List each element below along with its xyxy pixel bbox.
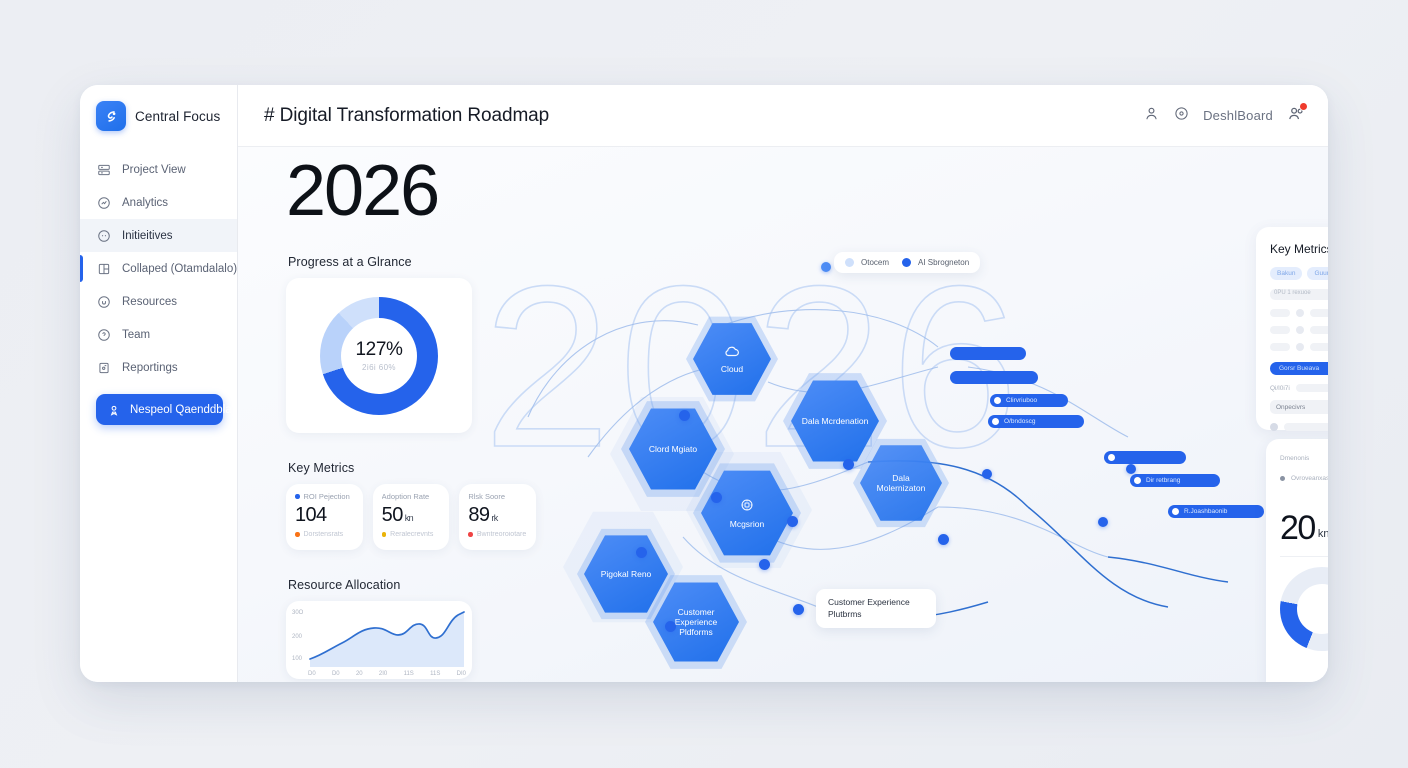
- pill-dot-icon: [1134, 477, 1141, 484]
- legend-dot-icon: [845, 258, 854, 267]
- panel-row: [1270, 309, 1328, 317]
- status-stat-unit: kn: [1318, 528, 1328, 540]
- sidebar-item-team[interactable]: Team: [80, 318, 237, 351]
- panel-ops-row: Onpecivrs: [1270, 400, 1328, 414]
- sidebar-cta-label: Nespeol Qaenddbla): [130, 404, 236, 416]
- sidebar-item-label: Analytics: [122, 197, 168, 209]
- status-donut-chart: [1280, 567, 1328, 651]
- sidebar-item-reportings[interactable]: Reportings: [80, 351, 237, 384]
- sidebar-item-collapsed[interactable]: Collaped (Otamdalalo): [80, 252, 237, 285]
- network-legend-chip: Otocem AI Sbrogneton: [834, 252, 980, 273]
- pill-label: Clirvriuboo: [1006, 397, 1037, 404]
- pill-dot-icon: [994, 397, 1001, 404]
- connector-dot: [1126, 464, 1136, 474]
- skeleton-bar: [1270, 309, 1290, 317]
- filter-chip[interactable]: Guunt: [1307, 267, 1328, 280]
- pill-label: Dir retbrang: [1146, 477, 1180, 484]
- divider: [1280, 556, 1328, 557]
- panel-row: [1270, 423, 1328, 431]
- skeleton-bar: [1296, 384, 1328, 392]
- legend-dot-icon: [902, 258, 911, 267]
- network-pill[interactable]: O/bndoscg: [988, 415, 1084, 428]
- connector-dot: [982, 469, 992, 479]
- status-stat-value: 20: [1280, 513, 1315, 544]
- sidebar-cta-button[interactable]: Nespeol Qaenddbla): [96, 394, 223, 425]
- panel-sub-label: Qi/l0i7i: [1270, 385, 1290, 392]
- connector-dot: [843, 459, 854, 470]
- hex-node-label: Mcgsrion: [730, 519, 764, 529]
- avatar-placeholder-icon: [1296, 309, 1304, 317]
- network-pill[interactable]: R.Joashbaonib: [1168, 505, 1264, 518]
- panel-filter-chips: Bakun Guunt Daets Bwt Dvre: [1270, 267, 1328, 280]
- panel-ops-label: Onpecivrs: [1276, 404, 1305, 411]
- panel-cta-button[interactable]: Gorsr Bueava: [1270, 362, 1328, 375]
- roadmap-network: Cloud Clord Mgiato Dala Mcrdenation Dala…: [238, 147, 1328, 682]
- hex-node-label: Dala Mcrdenation: [802, 416, 869, 426]
- network-pill[interactable]: [1104, 451, 1186, 464]
- dashboard-nav-label[interactable]: DeshlBoard: [1203, 108, 1273, 123]
- avatar-placeholder-icon: [1296, 343, 1304, 351]
- network-pill[interactable]: [950, 347, 1026, 360]
- app-window: Central Focus Project View Analy: [80, 85, 1328, 682]
- panel-cta-label: Gorsr Bueava: [1279, 365, 1319, 372]
- main-area: # Digital Transformation Roadmap DeshlBo…: [238, 85, 1328, 682]
- sidebar-item-label: Project View: [122, 164, 186, 176]
- target-circle-icon: [96, 228, 112, 244]
- status-big-stat: 20 kn Bownovoverd3: [1280, 513, 1328, 544]
- sidebar-item-initiatives[interactable]: Initieitives: [80, 219, 237, 252]
- box-circle-icon: [96, 294, 112, 310]
- connector-dot: [1098, 517, 1108, 527]
- hub-icon: [739, 497, 755, 515]
- layout-icon: [96, 261, 112, 277]
- dashboard-canvas: 2026 2026 Progress at a Glrance 127% 2i6…: [238, 147, 1328, 682]
- sidebar-nav: Project View Analytics Initieitives: [80, 147, 237, 425]
- connector-dot: [787, 516, 798, 527]
- list-icon: [96, 162, 112, 178]
- panel-row: Sresuo: [1280, 493, 1328, 507]
- clock-icon[interactable]: [1174, 106, 1189, 126]
- skeleton-bar: [1270, 326, 1290, 334]
- filter-chip[interactable]: Bakun: [1270, 267, 1302, 280]
- network-pill[interactable]: Dir retbrang: [1130, 474, 1220, 487]
- status-panel: Dmenonis Ovroveanxas Sresuo: [1266, 439, 1328, 682]
- connector-dot: [636, 547, 647, 558]
- status-node-label: Dmenonis: [1280, 455, 1309, 462]
- panel-row: Ovroveanxas: [1280, 473, 1328, 484]
- connector-dot: [759, 559, 770, 570]
- donut-center: [1297, 584, 1328, 634]
- hex-node-label: Pigokal Reno: [601, 569, 652, 579]
- panel-row: Qi/l0i7i: [1270, 384, 1328, 392]
- key-metrics-panel: Key Metrics NoB Bakun Guunt Daets: [1256, 227, 1328, 430]
- report-icon: [96, 360, 112, 376]
- status-dot-icon: [1280, 476, 1285, 481]
- network-callout: Customer Experience Plutbrms: [816, 589, 936, 628]
- sidebar-item-label: Collaped (Otamdalalo): [122, 263, 237, 275]
- sidebar-item-label: Team: [122, 329, 150, 341]
- panel-title: Key Metrics: [1270, 242, 1328, 256]
- pill-dot-icon: [1172, 508, 1179, 515]
- user-badge-icon: [106, 402, 122, 418]
- skeleton-bar: [1270, 343, 1290, 351]
- hex-node-label: Clord Mgiato: [649, 444, 697, 454]
- panel-header: Key Metrics NoB: [1270, 241, 1328, 256]
- network-pill[interactable]: Clirvriuboo: [990, 394, 1068, 407]
- hex-node-label: Dala Molernizaton: [869, 473, 933, 493]
- sidebar: Central Focus Project View Analy: [80, 85, 238, 682]
- hex-node-label: Cloud: [721, 364, 743, 374]
- person-icon[interactable]: [1143, 105, 1160, 127]
- avatar[interactable]: [1287, 104, 1306, 128]
- skeleton-bar: [1310, 309, 1328, 317]
- connector-dot: [665, 621, 676, 632]
- help-circle-icon: [96, 327, 112, 343]
- app-logo-icon: [96, 101, 126, 131]
- connector-dot: [821, 262, 831, 272]
- panel-row-label: 0PU 1 rexuoe: [1270, 289, 1328, 300]
- chart-circle-icon: [96, 195, 112, 211]
- sidebar-item-analytics[interactable]: Analytics: [80, 186, 237, 219]
- panel-row: 800-0r0 - .R: [1270, 343, 1328, 351]
- skeleton-bar: [1310, 343, 1328, 351]
- pill-label: R.Joashbaonib: [1184, 508, 1227, 515]
- status-sub-label: Ovroveanxas: [1291, 475, 1328, 482]
- page-title: # Digital Transformation Roadmap: [264, 105, 549, 127]
- pill-label: O/bndoscg: [1004, 418, 1035, 425]
- panel-row: Dmenonis: [1280, 453, 1328, 464]
- connector-dot: [679, 410, 690, 421]
- network-pill[interactable]: [950, 371, 1038, 384]
- legend-label: Otocem: [861, 258, 889, 267]
- panel-row: [1270, 326, 1328, 334]
- sidebar-item-project-view[interactable]: Project View: [80, 153, 237, 186]
- brand: Central Focus: [80, 85, 237, 147]
- pill-dot-icon: [1108, 454, 1115, 461]
- skeleton-bar: [1284, 423, 1328, 431]
- sidebar-item-label: Resources: [122, 296, 177, 308]
- connector-dot: [793, 604, 804, 615]
- connector-dot: [938, 534, 949, 545]
- top-bar: # Digital Transformation Roadmap DeshlBo…: [238, 85, 1328, 147]
- legend-label: AI Sbrogneton: [918, 258, 969, 267]
- sidebar-item-label: Initieitives: [122, 230, 173, 242]
- brand-name: Central Focus: [135, 109, 220, 124]
- sidebar-item-resources[interactable]: Resources: [80, 285, 237, 318]
- skeleton-bar: [1310, 326, 1328, 334]
- panel-row: 0PU 1 rexuoe: [1270, 289, 1328, 300]
- notification-badge: [1299, 102, 1308, 111]
- avatar-placeholder-icon: [1296, 326, 1304, 334]
- avatar-placeholder-icon: [1270, 423, 1278, 431]
- status-donut-block: Bosubo 029: [1280, 567, 1328, 651]
- pill-dot-icon: [992, 418, 999, 425]
- sidebar-item-label: Reportings: [122, 362, 178, 374]
- cloud-icon: [723, 344, 741, 360]
- top-bar-actions: DeshlBoard: [1143, 104, 1306, 128]
- connector-dot: [711, 492, 722, 503]
